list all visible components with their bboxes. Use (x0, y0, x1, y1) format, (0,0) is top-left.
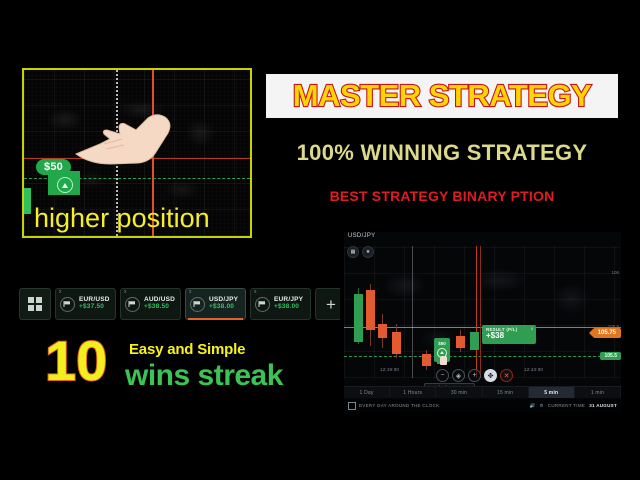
y-axis-label: 106 (611, 270, 619, 275)
y-axis-label: 105.8 (608, 324, 619, 329)
grid-view-icon[interactable] (19, 288, 51, 320)
candle-down (456, 336, 465, 348)
chart-canvas[interactable]: USD/JPY ▦ ★ (344, 232, 621, 412)
close-icon[interactable]: x (189, 290, 192, 295)
x-axis-label: 12:19:00 (380, 367, 399, 372)
flag-icon (190, 297, 205, 312)
close-icon[interactable]: x (124, 290, 127, 295)
pair-tab-usdjpy[interactable]: x USD/JPY +$38.00 (185, 288, 246, 320)
result-tooltip[interactable]: x RESULT (P/L) +$38 (482, 325, 536, 344)
current-price-tag: 105.75 (593, 328, 621, 338)
chart-entry-line (344, 356, 621, 357)
status-right: 🔊 ⚙ CURRENT TIME 31 AUGUST (530, 403, 617, 409)
candle-down (366, 290, 375, 330)
promo-stake-badge: $50 (36, 159, 71, 175)
pair-value: +$37.50 (79, 304, 110, 311)
entry-price-tag: 105.5 (600, 352, 621, 360)
close-icon[interactable]: x (254, 290, 257, 295)
page-title: MASTER STRATEGY (293, 78, 592, 114)
pair-value: +$38.00 (274, 304, 303, 311)
streak-tagline: Easy and Simple (129, 341, 245, 358)
trading-chart-panel: USD/JPY ▦ ★ (340, 228, 625, 416)
candle-down (422, 354, 431, 366)
chart-now-line (480, 246, 481, 378)
sound-icon[interactable]: 🔊 (530, 403, 536, 409)
timeframe-bar: 1 Day 1 Hours 30 min 15 min 5 min 1 min (344, 386, 621, 398)
trade-amount: $50 (438, 342, 446, 347)
candle-up (470, 332, 479, 350)
promo-panel: $50 higher position (22, 68, 252, 238)
up-arrow-icon (57, 177, 73, 193)
chart-pair-label[interactable]: USD/JPY (348, 233, 375, 239)
streak-callout: 10 Easy and Simple wins streak (45, 337, 315, 399)
candle-down (378, 324, 387, 338)
candle-down (392, 332, 401, 354)
pair-value: +$38.00 (209, 304, 238, 311)
close-icon[interactable]: x (531, 326, 533, 331)
chart-toolbar: ▦ ★ (347, 246, 374, 258)
calendar-icon (348, 402, 356, 410)
pair-value: +$38.50 (144, 304, 175, 311)
chart-gridlines (344, 246, 621, 378)
subtitle-secondary: BEST STRATEGY BINARY PTION (266, 188, 618, 204)
chart-status-bar: EVERY DAY AROUND THE CLOCK 🔊 ⚙ CURRENT T… (344, 399, 621, 412)
favorite-star-icon[interactable]: ★ (362, 246, 374, 258)
status-text: EVERY DAY AROUND THE CLOCK (359, 403, 439, 408)
subtitle: 100% WINNING STRATEGY (266, 140, 618, 166)
pair-tab-audusd[interactable]: x AUD/USD +$38.50 (120, 288, 181, 320)
pointing-hand-icon (70, 108, 180, 170)
flag-icon (60, 297, 75, 312)
timeframe-1hour[interactable]: 1 Hours (390, 387, 436, 398)
flag-icon (125, 297, 140, 312)
cursor-icon[interactable]: ✥ (484, 369, 497, 382)
chart-expiry-line (476, 246, 477, 378)
gear-icon[interactable]: ⚙ (539, 403, 543, 409)
close-icon[interactable]: x (59, 290, 62, 295)
zoom-controls: − ◈ + ✥ ✕ (436, 369, 513, 382)
screenshot-root: $50 higher position MASTER STRATEGY 100%… (0, 0, 640, 480)
pair-tabs-row: x EUR/USD +$37.50 x AUD/USD +$38.50 x (19, 288, 347, 320)
x-axis-label: 12:43:00 (524, 367, 543, 372)
candle-up (354, 294, 363, 342)
plus-icon[interactable]: + (468, 369, 481, 382)
promo-candle (24, 188, 31, 214)
timeframe-15min[interactable]: 15 min (483, 387, 529, 398)
current-time-label: CURRENT TIME (548, 403, 585, 408)
timeframe-30min[interactable]: 30 min (436, 387, 482, 398)
current-time-value: 31 AUGUST (589, 403, 617, 408)
flag-icon (255, 297, 270, 312)
promo-caption: higher position (34, 205, 244, 232)
candlestick-icon[interactable]: ▦ (347, 246, 359, 258)
streak-label: wins streak (125, 359, 283, 393)
pair-tab-eurjpy[interactable]: x EUR/JPY +$38.00 (250, 288, 311, 320)
cursor-icon (440, 356, 447, 365)
streak-number: 10 (45, 333, 107, 389)
timeframe-1min[interactable]: 1 min (575, 387, 621, 398)
result-value: +$38 (486, 332, 532, 341)
close-icon[interactable]: ✕ (500, 369, 513, 382)
pair-tab-eurusd[interactable]: x EUR/USD +$37.50 (55, 288, 116, 320)
crosshair-icon[interactable]: ◈ (452, 369, 465, 382)
minus-icon[interactable]: − (436, 369, 449, 382)
status-left: EVERY DAY AROUND THE CLOCK (348, 402, 439, 410)
timeframe-1day[interactable]: 1 Day (344, 387, 390, 398)
title-banner: MASTER STRATEGY (266, 74, 618, 118)
chart-time-marker (412, 246, 413, 378)
timeframe-5min[interactable]: 5 min (529, 387, 575, 398)
